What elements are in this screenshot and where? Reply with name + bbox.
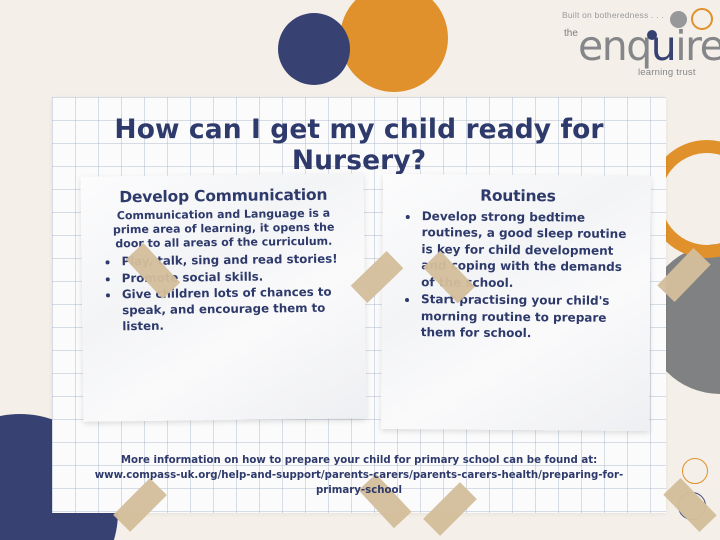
orange-circle-decoration (340, 0, 448, 92)
note-card-content: Routines Develop strong bedtime routines… (381, 174, 651, 431)
note-card-title: Develop Communication (97, 185, 350, 206)
list-item: Start practising your child's morning ro… (419, 291, 636, 342)
navy-circle-decoration (278, 13, 350, 85)
logo-the-text: the (564, 28, 578, 39)
list-item: Give children lots of chances to speak, … (120, 285, 352, 335)
logo-tagline: Built on botheredness . . . (562, 10, 664, 20)
note-card-title: Routines (399, 186, 637, 206)
page-title: How can I get my child ready for Nursery… (52, 114, 666, 176)
logo-subtitle: learning trust (638, 67, 696, 78)
footer-line1: More information on how to prepare your … (121, 455, 597, 466)
note-card-content: Develop Communication Communication and … (81, 173, 367, 421)
logo-navy-dot-icon (647, 30, 657, 40)
grid-paper-panel: How can I get my child ready for Nursery… (52, 97, 666, 513)
logo-wordmark-part3: ire (675, 22, 720, 70)
note-card-routines: Routines Develop strong bedtime routines… (381, 174, 651, 431)
logo-wordmark-part1: enq (578, 22, 651, 70)
logo-wordmark-part2: u (651, 22, 676, 70)
slide-canvas: Built on botheredness . . . the enquire … (0, 0, 720, 540)
note-card-lead: Communication and Language is a prime ar… (97, 206, 350, 251)
footer-url[interactable]: www.compass-uk.org/help-and-support/pare… (76, 469, 642, 499)
small-orange-ring-decoration (682, 458, 708, 484)
tape-piece-icon (663, 478, 716, 532)
enquire-learning-trust-logo: Built on botheredness . . . the enquire … (548, 6, 716, 88)
note-card-develop-communication: Develop Communication Communication and … (81, 173, 367, 421)
footer-note: More information on how to prepare your … (76, 454, 642, 498)
